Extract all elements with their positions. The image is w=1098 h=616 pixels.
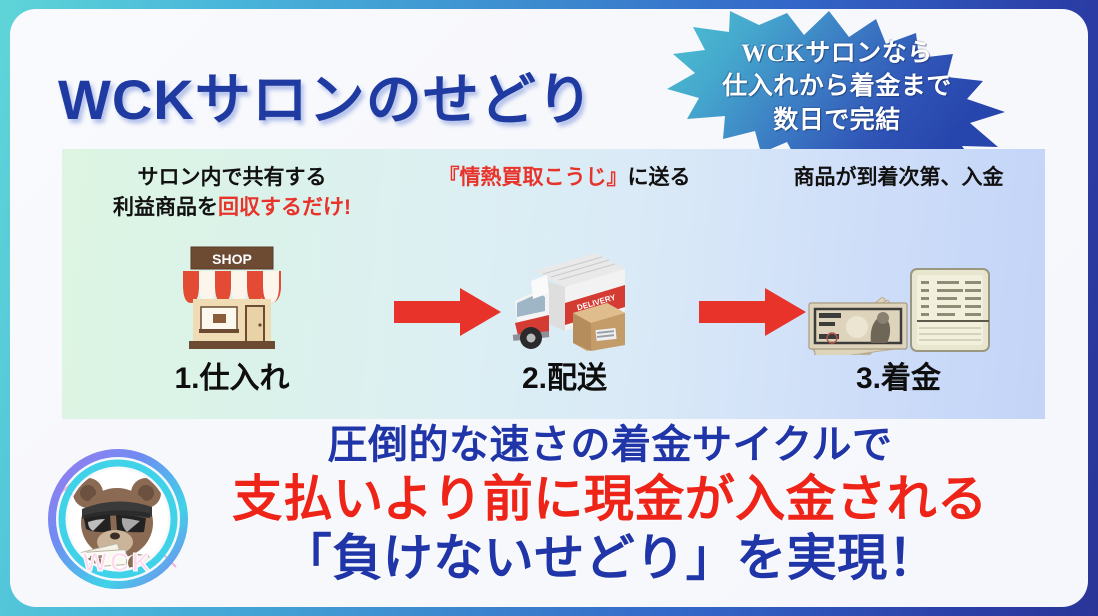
step-1-artwork: SHOP	[62, 237, 402, 357]
starburst-badge: WCKサロンなら 仕入れから着金まで 数日で完結	[667, 11, 1007, 169]
step-2-caption-accent: 『情熱買取こうじ』	[439, 166, 628, 189]
message-line-2: 支払いより前に現金が入金される	[160, 470, 1060, 528]
step-2-artwork: DELIVERY	[432, 237, 697, 357]
process-step-3: 商品が到着次第、入金	[752, 149, 1045, 419]
page-title: WCKサロンのせどり	[58, 55, 594, 136]
step-3-caption-line-1: 商品が到着次第、入金	[752, 163, 1045, 193]
step-1-caption-plain: 利益商品を	[113, 196, 218, 219]
step-3-caption: 商品が到着次第、入金	[752, 163, 1045, 193]
step-1-caption-line-2: 利益商品を回収するだけ!	[62, 193, 402, 223]
step-2-caption: 『情熱買取こうじ』に送る	[432, 163, 697, 193]
cash-and-bankbook-icon	[799, 239, 999, 355]
step-1-caption-line-1: サロン内で共有する	[62, 163, 402, 193]
step-1-caption-accent: 回収するだけ!	[218, 196, 351, 219]
svg-text:SHOP: SHOP	[212, 251, 252, 267]
process-panel: サロン内で共有する 利益商品を回収するだけ! SHOP	[62, 149, 1045, 419]
starburst-shape	[667, 11, 1007, 169]
closing-message: 圧倒的な速さの着金サイクルで 支払いより前に現金が入金される 「負けないせどり」…	[160, 423, 1060, 587]
step-2-caption-line-1: 『情熱買取こうじ』に送る	[432, 163, 697, 193]
step-2-caption-plain: に送る	[628, 166, 691, 189]
step-3-label: 3.着金	[752, 353, 1045, 397]
slide-root: WCKサロンのせどり WCKサロンなら 仕入れから着金まで	[0, 0, 1098, 616]
process-step-1: サロン内で共有する 利益商品を回収するだけ! SHOP	[62, 149, 402, 419]
step-3-artwork	[752, 237, 1045, 357]
step-2-label: 2.配送	[432, 353, 697, 397]
step-1-caption: サロン内で共有する 利益商品を回収するだけ!	[62, 163, 402, 224]
logo-text: WCK	[82, 547, 153, 577]
shop-storefront-icon: SHOP	[171, 241, 293, 353]
wck-bear-mascot-logo: WCK	[42, 443, 194, 595]
logo-artwork: WCK	[42, 443, 194, 595]
step-1-label: 1.仕入れ	[62, 353, 402, 397]
delivery-truck-icon: DELIVERY	[501, 241, 629, 353]
slide-card: WCKサロンのせどり WCKサロンなら 仕入れから着金まで	[10, 9, 1088, 607]
process-step-2: 『情熱買取こうじ』に送る	[432, 149, 697, 419]
message-line-3: 「負けないせどり」を実現！	[160, 529, 1060, 587]
message-line-1: 圧倒的な速さの着金サイクルで	[160, 423, 1060, 468]
